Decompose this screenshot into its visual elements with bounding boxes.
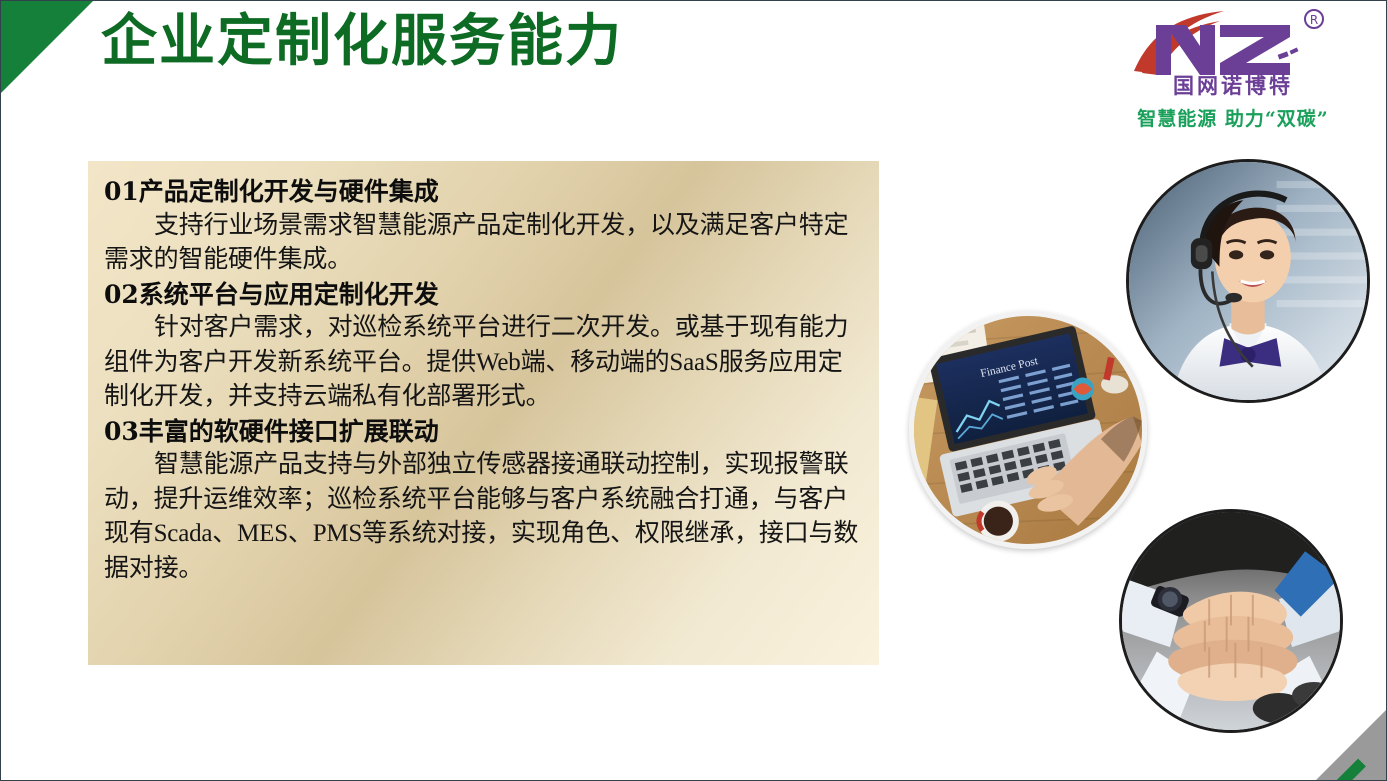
company-logo: R 国网诺博特 智慧能源 助力“双碳”: [1108, 7, 1358, 131]
logo-monogram-icon: R: [1128, 7, 1338, 79]
photo-customer-service-agent: [1126, 159, 1370, 403]
svg-text:R: R: [1310, 13, 1318, 27]
section-body-03: 智慧能源产品支持与外部独立传感器接通联动控制，实现报警联动，提升运维效率；巡检系…: [104, 448, 861, 586]
photo-laptop-workstation: Finance Post: [909, 311, 1147, 549]
slide-canvas: 企业定制化服务能力 R 国网诺博特 智慧能源 助力“双: [0, 0, 1387, 781]
logo-tagline: 智慧能源 助力“双碳”: [1108, 104, 1358, 131]
section-heading-01: 01产品定制化开发与硬件集成: [104, 175, 861, 209]
top-left-corner-triangle-icon: [1, 1, 93, 93]
photo-teamwork-hands: [1119, 509, 1343, 733]
content-panel: 01产品定制化开发与硬件集成 支持行业场景需求智慧能源产品定制化开发，以及满足客…: [88, 161, 879, 665]
section-body-02: 针对客户需求，对巡检系统平台进行二次开发。或基于现有能力组件为客户开发新系统平台…: [104, 311, 861, 415]
section-body-01: 支持行业场景需求智慧能源产品定制化开发，以及满足客户特定需求的智能硬件集成。: [104, 209, 861, 278]
section-heading-02: 02系统平台与应用定制化开发: [104, 278, 861, 312]
section-heading-03: 03丰富的软硬件接口扩展联动: [104, 415, 861, 449]
page-title: 企业定制化服务能力: [101, 11, 623, 73]
